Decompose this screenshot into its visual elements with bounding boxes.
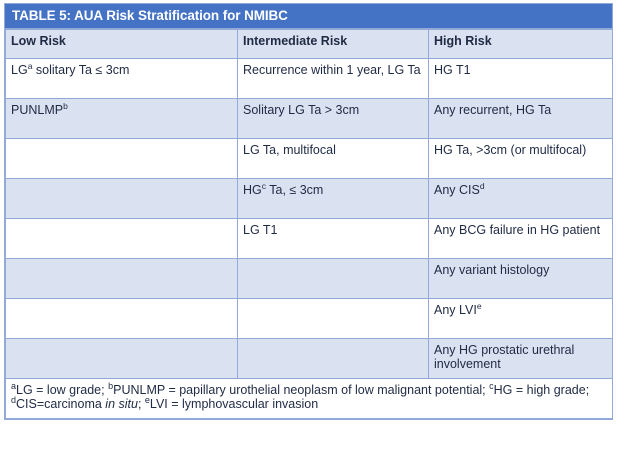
cell-intermediate-risk: HGc Ta, ≤ 3cm [238,178,429,218]
table-row: Any LVIe [6,298,613,338]
cell-text: Any recurrent, HG Ta [434,103,551,117]
footnote-text: PUNLMP = papillary urothelial neoplasm o… [113,383,489,397]
risk-stratification-table: Low Risk Intermediate Risk High Risk LGa… [5,29,613,419]
table-row: PUNLMPb Solitary LG Ta > 3cm Any recurre… [6,98,613,138]
footnote-text: HG = high grade; [494,383,590,397]
cell-high-risk: Any recurrent, HG Ta [429,98,613,138]
cell-high-risk: HG T1 [429,58,613,98]
cell-text: HG [243,183,262,197]
cell-intermediate-risk: Solitary LG Ta > 3cm [238,98,429,138]
cell-text: Recurrence within 1 year, LG Ta [243,63,421,77]
cell-high-risk: HG Ta, >3cm (or multifocal) [429,138,613,178]
cell-high-risk: Any variant histology [429,258,613,298]
cell-intermediate-risk [238,338,429,378]
cell-high-risk: Any BCG failure in HG patient [429,218,613,258]
cell-low-risk: LGa solitary Ta ≤ 3cm [6,58,238,98]
cell-text: Any LVI [434,303,477,317]
footnote-marker-b: b [63,100,68,110]
cell-low-risk: PUNLMPb [6,98,238,138]
column-header-high-risk: High Risk [429,29,613,58]
cell-text: Any CIS [434,183,480,197]
cell-intermediate-risk [238,298,429,338]
cell-low-risk [6,178,238,218]
cell-intermediate-risk: LG Ta, multifocal [238,138,429,178]
cell-low-risk [6,218,238,258]
cell-text: Any BCG failure in HG patient [434,223,600,237]
footnote-text: CIS=carcinoma [16,397,105,411]
cell-low-risk [6,258,238,298]
table-header-row: Low Risk Intermediate Risk High Risk [6,29,613,58]
risk-stratification-table-container: TABLE 5: AUA Risk Stratification for NMI… [4,3,613,420]
cell-text-after: solitary Ta ≤ 3cm [32,63,129,77]
column-header-low-risk: Low Risk [6,29,238,58]
cell-low-risk [6,338,238,378]
cell-text: LG T1 [243,223,278,237]
cell-text: Any HG prostatic urethral involvement [434,343,574,371]
cell-intermediate-risk [238,258,429,298]
footnote-text: LVI = lymphovascular invasion [150,397,318,411]
cell-text: Solitary LG Ta > 3cm [243,103,359,117]
table-title: TABLE 5: AUA Risk Stratification for NMI… [5,4,612,29]
cell-high-risk: Any HG prostatic urethral involvement [429,338,613,378]
footnote-italic-term: in situ [105,397,138,411]
cell-text: PUNLMP [11,103,63,117]
cell-text-after: Ta, ≤ 3cm [266,183,323,197]
table-row: HGc Ta, ≤ 3cm Any CISd [6,178,613,218]
table-row: Any HG prostatic urethral involvement [6,338,613,378]
column-header-intermediate-risk: Intermediate Risk [238,29,429,58]
cell-text: LG [11,63,28,77]
cell-low-risk [6,138,238,178]
table-footnote: aLG = low grade; bPUNLMP = papillary uro… [6,378,613,418]
cell-high-risk: Any LVIe [429,298,613,338]
cell-text: Any variant histology [434,263,549,277]
table-row: LG T1 Any BCG failure in HG patient [6,218,613,258]
footnote-marker-d: d [480,180,485,190]
table-footnote-row: aLG = low grade; bPUNLMP = papillary uro… [6,378,613,418]
footnote-text: ; [138,397,145,411]
cell-high-risk: Any CISd [429,178,613,218]
cell-text: LG Ta, multifocal [243,143,336,157]
cell-intermediate-risk: Recurrence within 1 year, LG Ta [238,58,429,98]
cell-text: HG T1 [434,63,471,77]
footnote-marker-e: e [477,300,482,310]
footnote-text: LG = low grade; [16,383,108,397]
table-row: Any variant histology [6,258,613,298]
cell-low-risk [6,298,238,338]
table-row: LGa solitary Ta ≤ 3cm Recurrence within … [6,58,613,98]
cell-intermediate-risk: LG T1 [238,218,429,258]
cell-text: HG Ta, >3cm (or multifocal) [434,143,586,157]
table-row: LG Ta, multifocal HG Ta, >3cm (or multif… [6,138,613,178]
